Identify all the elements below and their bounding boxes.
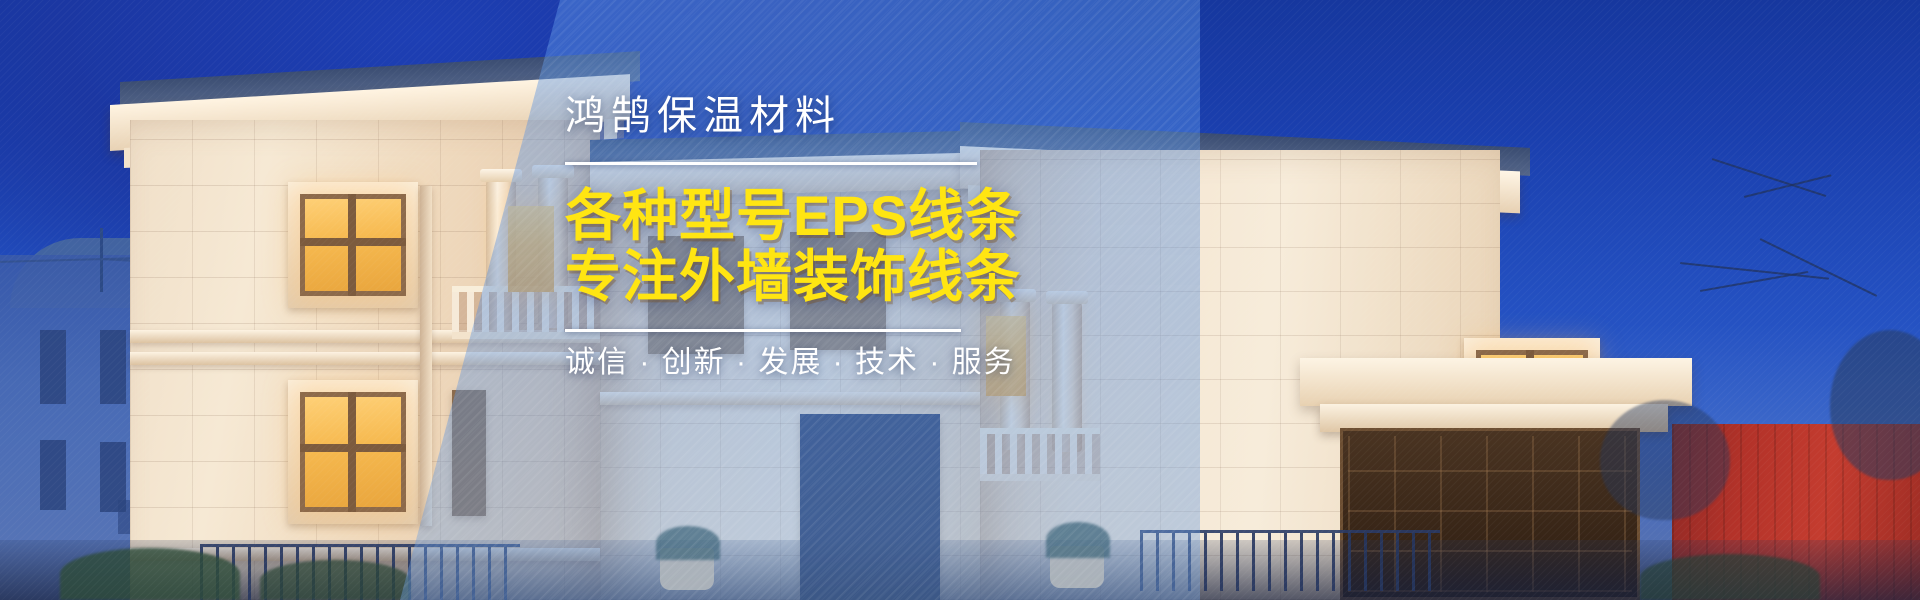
lit-window (300, 194, 406, 296)
promo-banner: 鸿鹄保温材料 各种型号EPS线条 专注外墙装饰线条 诚信 · 创新 · 发展 ·… (0, 0, 1920, 600)
headline-line-1: 各种型号EPS线条 (565, 185, 1015, 246)
headline-line-2: 专注外墙装饰线条 (565, 246, 1015, 307)
garage-cornice (1300, 358, 1692, 406)
distant-window (100, 330, 126, 404)
shrub (260, 560, 410, 600)
distant-window (40, 440, 66, 510)
banner-copy-block: 鸿鹄保温材料 各种型号EPS线条 专注外墙装饰线条 诚信 · 创新 · 发展 ·… (565, 96, 1015, 378)
shrub (1640, 554, 1820, 600)
shrub (60, 548, 240, 600)
background-tree (1600, 400, 1730, 520)
downspout (420, 186, 432, 526)
brand-name: 鸿鹄保温材料 (565, 96, 1015, 136)
divider-bottom (565, 329, 961, 332)
tagline: 诚信 · 创新 · 发展 · 技术 · 服务 (565, 348, 1015, 378)
lit-window (300, 392, 406, 512)
distant-window (40, 330, 66, 404)
divider-top (565, 162, 977, 165)
